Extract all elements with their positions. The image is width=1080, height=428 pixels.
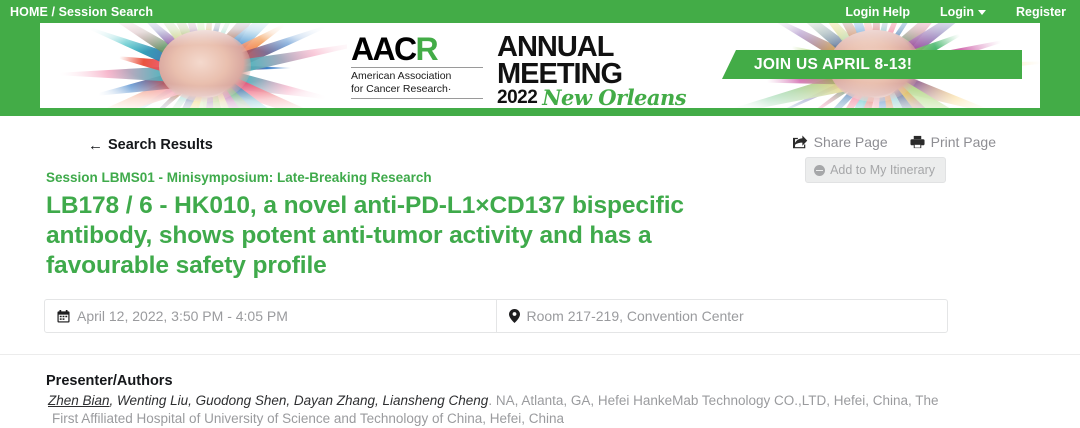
authors-heading: Presenter/Authors — [46, 373, 1036, 389]
authors-body: Zhen Bian, Wenting Liu, Guodong Shen, Da… — [46, 392, 957, 428]
back-to-search-results-link[interactable]: ← Search Results — [88, 137, 213, 153]
top-navigation-bar: HOME / Session Search Login Help Login R… — [0, 0, 1080, 23]
abstract-meta-row: April 12, 2022, 3:50 PM - 4:05 PM Room 2… — [44, 299, 948, 333]
location-text: Room 217-219, Convention Center — [527, 308, 744, 324]
banner-image: AACR American Association for Cancer Res… — [40, 23, 1040, 108]
join-us-ribbon[interactable]: JOIN US APRIL 8-13! — [722, 50, 1022, 79]
print-page-button[interactable]: Print Page — [910, 134, 996, 150]
location-cell: Room 217-219, Convention Center — [496, 300, 948, 332]
nav-login-label: Login — [940, 5, 974, 19]
banner-art-fade — [40, 23, 370, 108]
meeting-year-city: 2022 New Orleans — [497, 88, 686, 108]
co-author-names: , Wenting Liu, Guodong Shen, Dayan Zhang… — [110, 393, 489, 408]
banner-art-left — [40, 23, 370, 108]
nav-register-label: Register — [1016, 5, 1066, 19]
nav-login-help-label: Login Help — [845, 5, 910, 19]
share-icon — [793, 135, 808, 149]
meeting-year: 2022 — [497, 88, 537, 108]
logo-divider-bottom — [351, 98, 483, 99]
top-nav-links: Login Help Login Register — [845, 5, 1066, 19]
datetime-cell: April 12, 2022, 3:50 PM - 4:05 PM — [45, 300, 496, 332]
calendar-icon — [57, 310, 70, 323]
add-to-itinerary-label: Add to My Itinerary — [830, 163, 935, 177]
aacr-wordmark: AACR — [351, 33, 483, 65]
aacr-logo: AACR American Association for Cancer Res… — [351, 33, 491, 99]
datetime-text: April 12, 2022, 3:50 PM - 4:05 PM — [77, 308, 288, 324]
meeting-title-block: ANNUAL MEETING 2022 New Orleans — [491, 33, 686, 108]
meeting-line-annual: ANNUAL — [497, 34, 686, 61]
share-page-button[interactable]: Share Page — [793, 134, 888, 150]
minus-circle-icon — [814, 165, 825, 176]
nav-login-help[interactable]: Login Help — [845, 5, 910, 19]
meeting-line-meeting: MEETING — [497, 61, 686, 88]
page-title: LB178 / 6 - HK010, a novel anti-PD-L1×CD… — [44, 191, 706, 281]
share-page-label: Share Page — [814, 134, 888, 150]
aacr-logo-block: AACR American Association for Cancer Res… — [347, 31, 692, 108]
logo-divider-top — [351, 67, 483, 68]
presenter-name[interactable]: Zhen Bian — [48, 393, 110, 408]
printer-icon — [910, 135, 925, 149]
authors-section: Presenter/Authors Zhen Bian, Wenting Liu… — [44, 373, 1036, 428]
aacr-subtitle-line1: American Association — [351, 70, 483, 83]
breadcrumb[interactable]: HOME / Session Search — [10, 5, 153, 19]
conference-banner: AACR American Association for Cancer Res… — [0, 23, 1080, 116]
chevron-down-icon — [978, 10, 986, 15]
page-tools: Share Page Print Page — [793, 134, 996, 150]
print-page-label: Print Page — [931, 134, 996, 150]
main-content: ← Search Results Share Page Print Page A… — [0, 116, 1080, 428]
arrow-left-icon: ← — [88, 138, 103, 153]
back-link-label: Search Results — [108, 137, 213, 153]
section-divider — [0, 354, 1080, 355]
add-to-itinerary-button[interactable]: Add to My Itinerary — [805, 157, 946, 183]
nav-login[interactable]: Login — [940, 5, 986, 19]
aacr-subtitle-line2: for Cancer Research· — [351, 83, 483, 96]
meeting-city: New Orleans — [542, 88, 686, 108]
nav-register[interactable]: Register — [1016, 5, 1066, 19]
page-actions-row: ← Search Results Share Page Print Page A… — [44, 116, 1036, 172]
map-pin-icon — [509, 309, 520, 323]
